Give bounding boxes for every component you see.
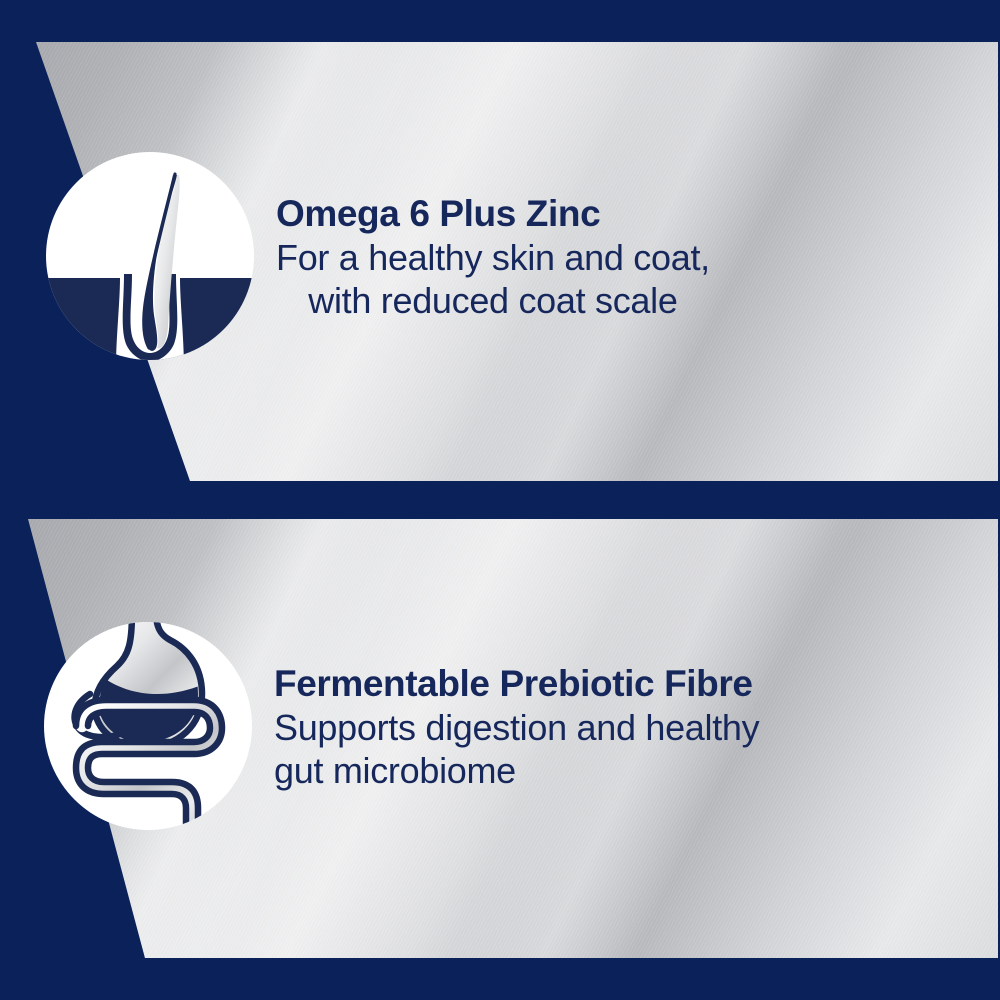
product-benefits-panel: Omega 6 Plus Zinc For a healthy skin and… xyxy=(0,0,1000,1000)
hair-follicle-icon-circle xyxy=(46,152,254,360)
benefit-item-omega-6-plus-zinc: Omega 6 Plus Zinc For a healthy skin and… xyxy=(46,152,710,360)
benefit-item-fermentable-prebiotic-fibre: Fermentable Prebiotic Fibre Supports dig… xyxy=(44,622,759,830)
benefit-2-text-block: Fermentable Prebiotic Fibre Supports dig… xyxy=(274,661,759,792)
benefit-2-body-line-2: gut microbiome xyxy=(274,749,759,792)
benefit-1-text-block: Omega 6 Plus Zinc For a healthy skin and… xyxy=(276,191,710,322)
benefit-2-body-line-1: Supports digestion and healthy xyxy=(274,706,759,749)
benefit-2-title: Fermentable Prebiotic Fibre xyxy=(274,661,759,706)
stomach-intestine-icon xyxy=(44,622,252,830)
hair-follicle-icon xyxy=(46,152,254,360)
benefit-1-title: Omega 6 Plus Zinc xyxy=(276,191,710,236)
benefit-1-body-line-2: with reduced coat scale xyxy=(276,279,710,322)
stomach-intestine-icon-circle xyxy=(44,622,252,830)
benefit-1-body: For a healthy skin and coat, with reduce… xyxy=(276,236,710,322)
benefit-2-body: Supports digestion and healthy gut micro… xyxy=(274,706,759,792)
benefit-1-body-line-1: For a healthy skin and coat, xyxy=(276,236,710,279)
